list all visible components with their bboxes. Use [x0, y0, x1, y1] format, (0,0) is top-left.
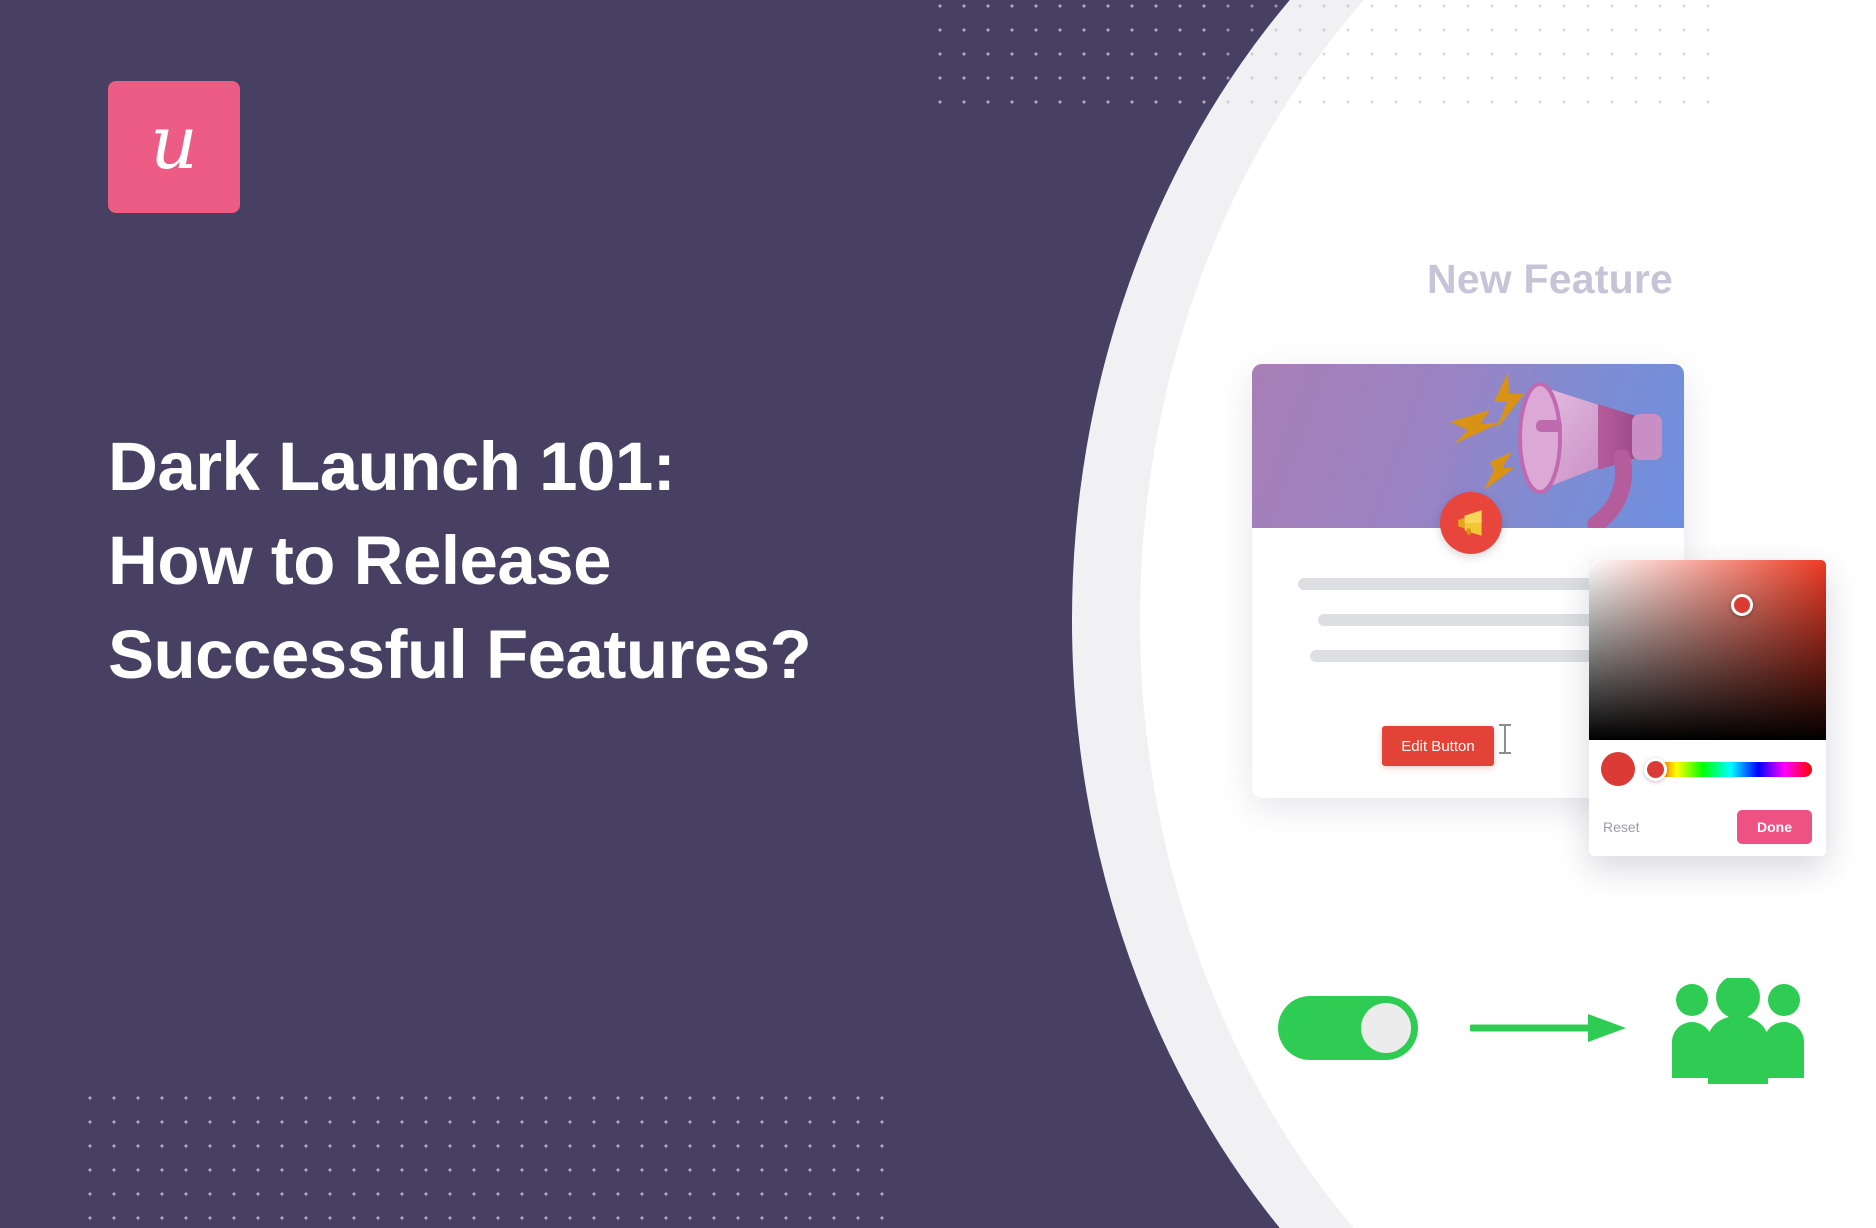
- reset-button[interactable]: Reset: [1603, 819, 1640, 835]
- saturation-value-area[interactable]: [1589, 560, 1826, 740]
- edit-button[interactable]: Edit Button: [1382, 726, 1494, 766]
- saturation-value-handle[interactable]: [1731, 594, 1753, 616]
- text-cursor-icon: [1504, 724, 1506, 754]
- color-picker-controls: [1589, 740, 1826, 798]
- feature-toggle[interactable]: [1278, 996, 1418, 1060]
- skeleton-line: [1298, 578, 1638, 590]
- color-picker-popover[interactable]: Reset Done: [1589, 560, 1826, 856]
- logo-glyph: u: [150, 106, 198, 180]
- slide-canvas: u Dark Launch 101: How to Release Succes…: [0, 0, 1876, 1228]
- megaphone-illustration: [1390, 364, 1684, 528]
- dot-pattern-bottom-left: [78, 1086, 898, 1228]
- hue-track[interactable]: [1649, 762, 1812, 777]
- arrow-right-icon: [1470, 1010, 1630, 1046]
- group-of-people-icon: [1668, 978, 1808, 1084]
- done-button[interactable]: Done: [1737, 810, 1812, 844]
- hue-slider[interactable]: [1649, 762, 1812, 777]
- hue-handle[interactable]: [1644, 758, 1667, 781]
- color-picker-footer: Reset Done: [1589, 798, 1826, 856]
- megaphone-badge: [1440, 492, 1502, 554]
- userpilot-logo: u: [108, 81, 240, 213]
- megaphone-icon: [1454, 506, 1488, 540]
- toggle-knob[interactable]: [1361, 1003, 1411, 1053]
- new-feature-label: New Feature: [1400, 256, 1700, 303]
- selected-color-swatch: [1601, 752, 1635, 786]
- page-title: Dark Launch 101: How to Release Successf…: [108, 420, 828, 701]
